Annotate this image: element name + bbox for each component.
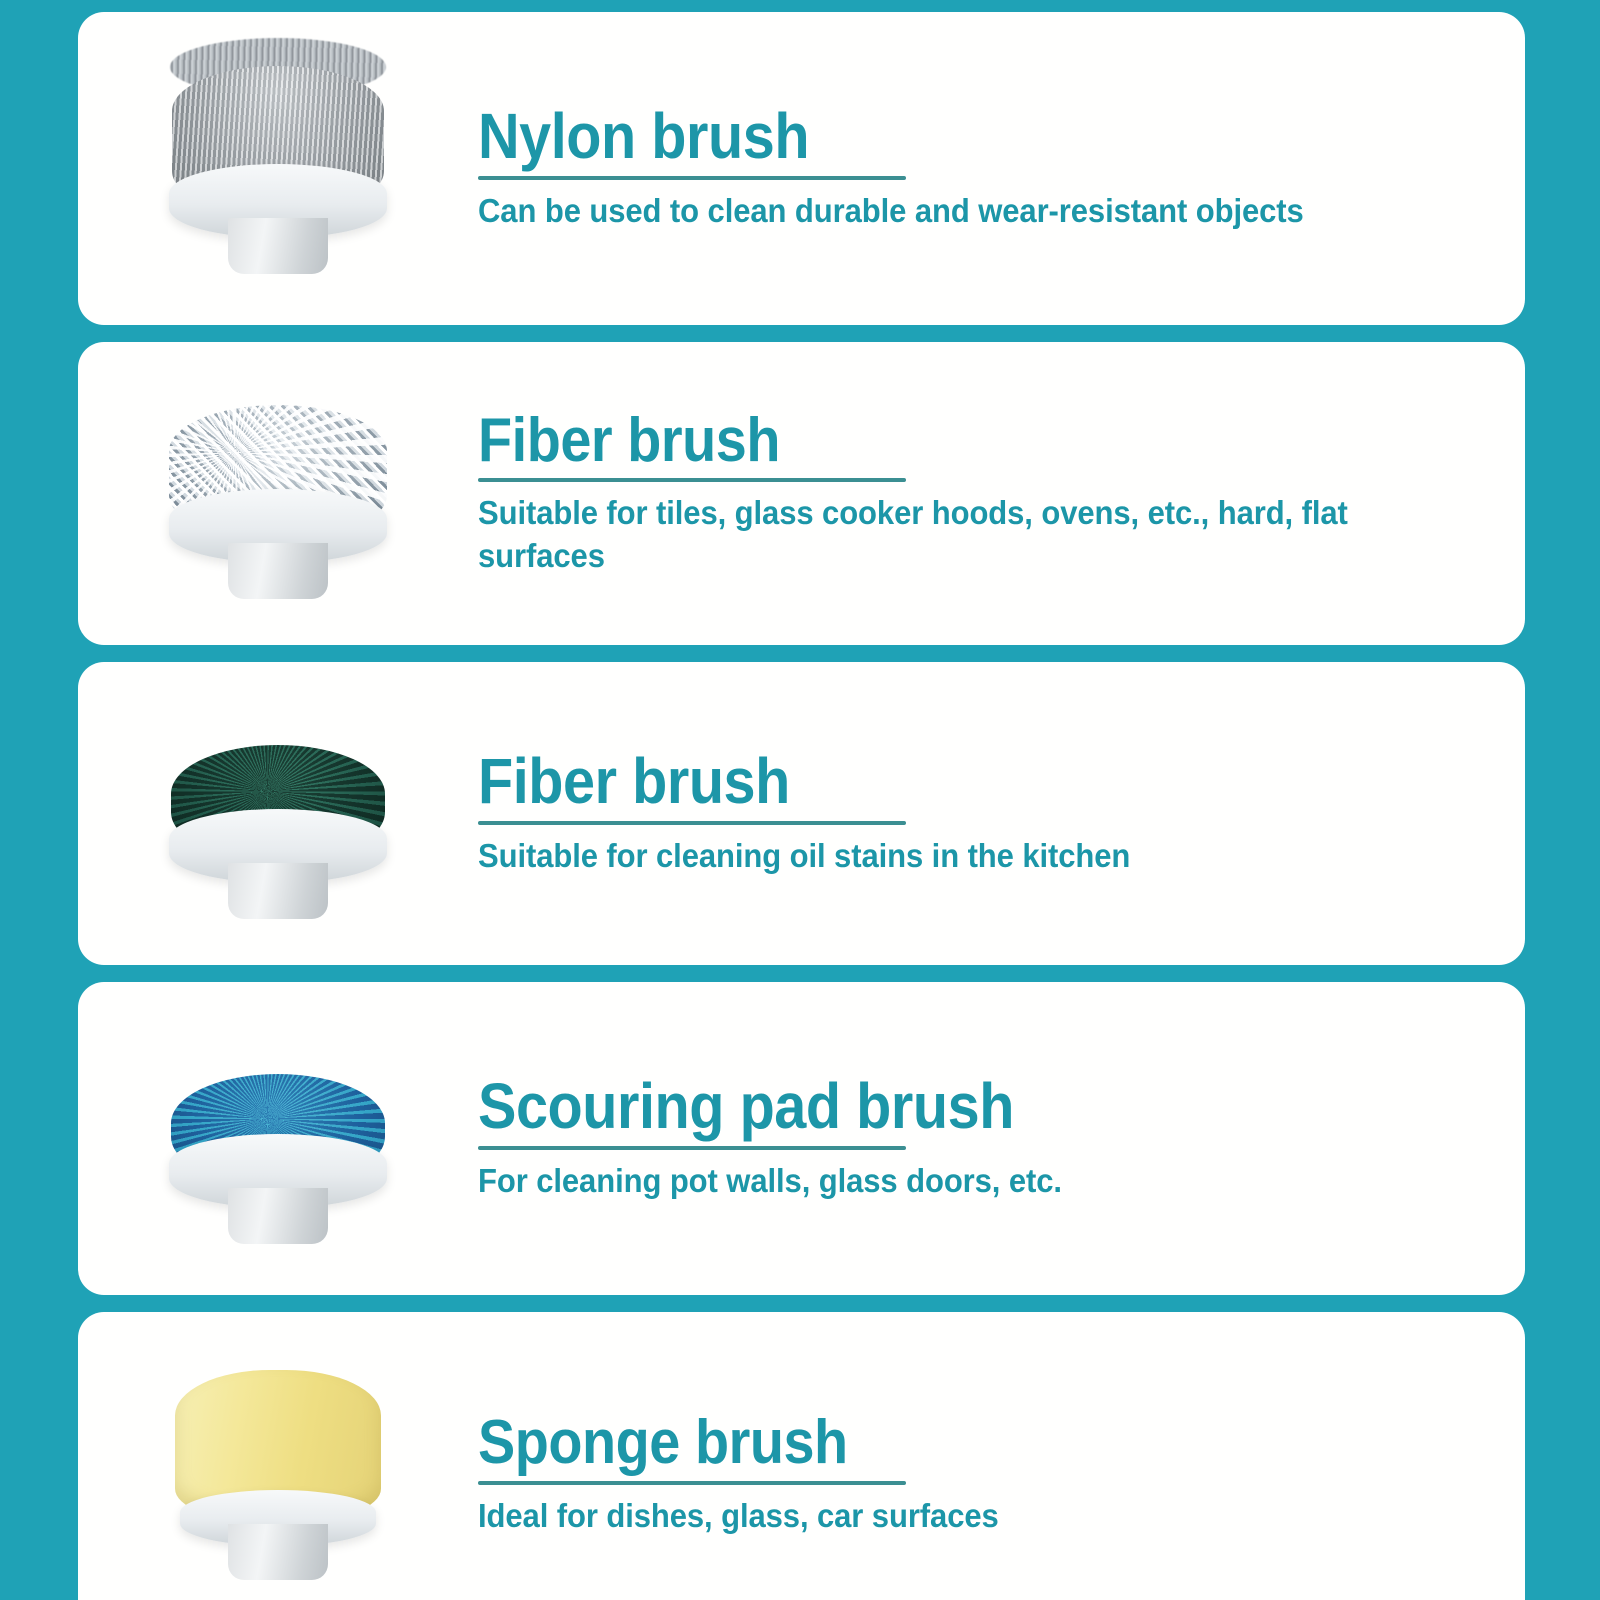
sponge-brush-thumbnail [78, 1312, 478, 1600]
title-underline [478, 1146, 906, 1150]
green-scouring-pad-brush-head-image [163, 709, 393, 919]
brush-stem [228, 1524, 328, 1580]
green-pad-brush-thumbnail [78, 662, 478, 965]
card-description: Can be used to clean durable and wear-re… [478, 190, 1406, 233]
feature-card-sponge-brush: Sponge brush Ideal for dishes, glass, ca… [78, 1312, 1525, 1600]
card-title: Scouring pad brush [478, 1074, 1366, 1139]
title-underline [478, 478, 906, 482]
steel-wool-brush-thumbnail [78, 342, 478, 645]
card-description: Suitable for tiles, glass cooker hoods, … [478, 492, 1406, 578]
card-title: Fiber brush [478, 409, 1366, 472]
feature-card-nylon-brush: Nylon brush Can be used to clean durable… [78, 12, 1525, 325]
feature-card-scouring-pad-brush: Scouring pad brush For cleaning pot wall… [78, 982, 1525, 1295]
card-description: Suitable for cleaning oil stains in the … [478, 835, 1406, 878]
sponge-brush-text-block: Sponge brush Ideal for dishes, glass, ca… [478, 1411, 1525, 1537]
brush-stem [228, 1188, 328, 1244]
scouring-pad-brush-text-block: Scouring pad brush For cleaning pot wall… [478, 1074, 1525, 1202]
card-title: Sponge brush [478, 1411, 1366, 1474]
title-underline [478, 1481, 906, 1485]
brush-stem [228, 543, 328, 599]
brush-stem [228, 863, 328, 919]
card-title: Fiber brush [478, 749, 1366, 814]
brush-stem [228, 218, 328, 274]
card-title: Nylon brush [478, 104, 1366, 169]
brush-attachment-feature-list: Nylon brush Can be used to clean durable… [0, 0, 1600, 1600]
nylon-brush-text-block: Nylon brush Can be used to clean durable… [478, 104, 1525, 232]
fiber-brush-steel-text-block: Fiber brush Suitable for tiles, glass co… [478, 409, 1525, 578]
nylon-brush-thumbnail [78, 12, 478, 325]
card-description: For cleaning pot walls, glass doors, etc… [478, 1160, 1406, 1203]
fiber-brush-green-text-block: Fiber brush Suitable for cleaning oil st… [478, 749, 1525, 877]
nylon-brush-head-image [163, 64, 393, 274]
title-underline [478, 176, 906, 180]
feature-card-fiber-brush-green: Fiber brush Suitable for cleaning oil st… [78, 662, 1525, 965]
title-underline [478, 821, 906, 825]
blue-pad-brush-thumbnail [78, 982, 478, 1295]
blue-scouring-pad-brush-head-image [163, 1034, 393, 1244]
steel-wool-brush-head-image [163, 389, 393, 599]
yellow-sponge-brush-head-image [163, 1370, 393, 1580]
card-description: Ideal for dishes, glass, car surfaces [478, 1495, 1406, 1538]
feature-card-fiber-brush-steel: Fiber brush Suitable for tiles, glass co… [78, 342, 1525, 645]
